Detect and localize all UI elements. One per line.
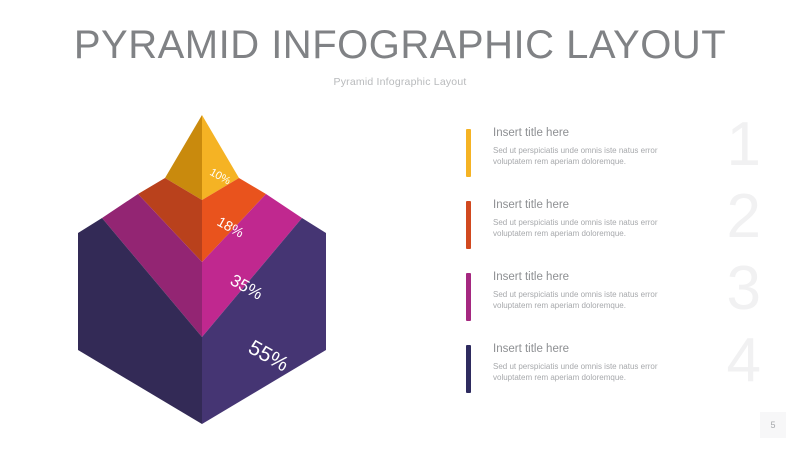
legend-description-4: Sed ut perspiciatis unde omnis iste natu…: [493, 361, 698, 383]
page-number: 5: [760, 412, 786, 438]
legend-text-block-4: Insert title here Sed ut perspiciatis un…: [493, 342, 766, 383]
slide-canvas: PYRAMID INFOGRAPHIC LAYOUT Pyramid Infog…: [0, 0, 800, 450]
legend-title-3: Insert title here: [493, 270, 766, 285]
legend-description-2: Sed ut perspiciatis unde omnis iste natu…: [493, 217, 698, 239]
list-item[interactable]: 4 Insert title here Sed ut perspiciatis …: [466, 342, 766, 398]
legend-color-bar-2: [466, 201, 471, 249]
legend-text-block-3: Insert title here Sed ut perspiciatis un…: [493, 270, 766, 311]
list-item[interactable]: 3 Insert title here Sed ut perspiciatis …: [466, 270, 766, 326]
legend-title-2: Insert title here: [493, 198, 766, 213]
page-title: PYRAMID INFOGRAPHIC LAYOUT: [0, 22, 800, 68]
legend-title-1: Insert title here: [493, 126, 766, 141]
page-subtitle: Pyramid Infographic Layout: [0, 76, 800, 88]
slide-header: PYRAMID INFOGRAPHIC LAYOUT Pyramid Infog…: [0, 22, 800, 88]
legend-color-bar-4: [466, 345, 471, 393]
pyramid-svg: 10% 18% 35% 55%: [40, 100, 380, 440]
legend-description-3: Sed ut perspiciatis unde omnis iste natu…: [493, 289, 698, 311]
pyramid-chart: 10% 18% 35% 55%: [40, 100, 380, 440]
legend-text-block-1: Insert title here Sed ut perspiciatis un…: [493, 126, 766, 167]
legend-description-1: Sed ut perspiciatis unde omnis iste natu…: [493, 145, 698, 167]
legend-title-4: Insert title here: [493, 342, 766, 357]
list-item[interactable]: 2 Insert title here Sed ut perspiciatis …: [466, 198, 766, 254]
legend-color-bar-1: [466, 129, 471, 177]
legend-list: 1 Insert title here Sed ut perspiciatis …: [466, 126, 766, 416]
legend-color-bar-3: [466, 273, 471, 321]
list-item[interactable]: 1 Insert title here Sed ut perspiciatis …: [466, 126, 766, 182]
legend-text-block-2: Insert title here Sed ut perspiciatis un…: [493, 198, 766, 239]
